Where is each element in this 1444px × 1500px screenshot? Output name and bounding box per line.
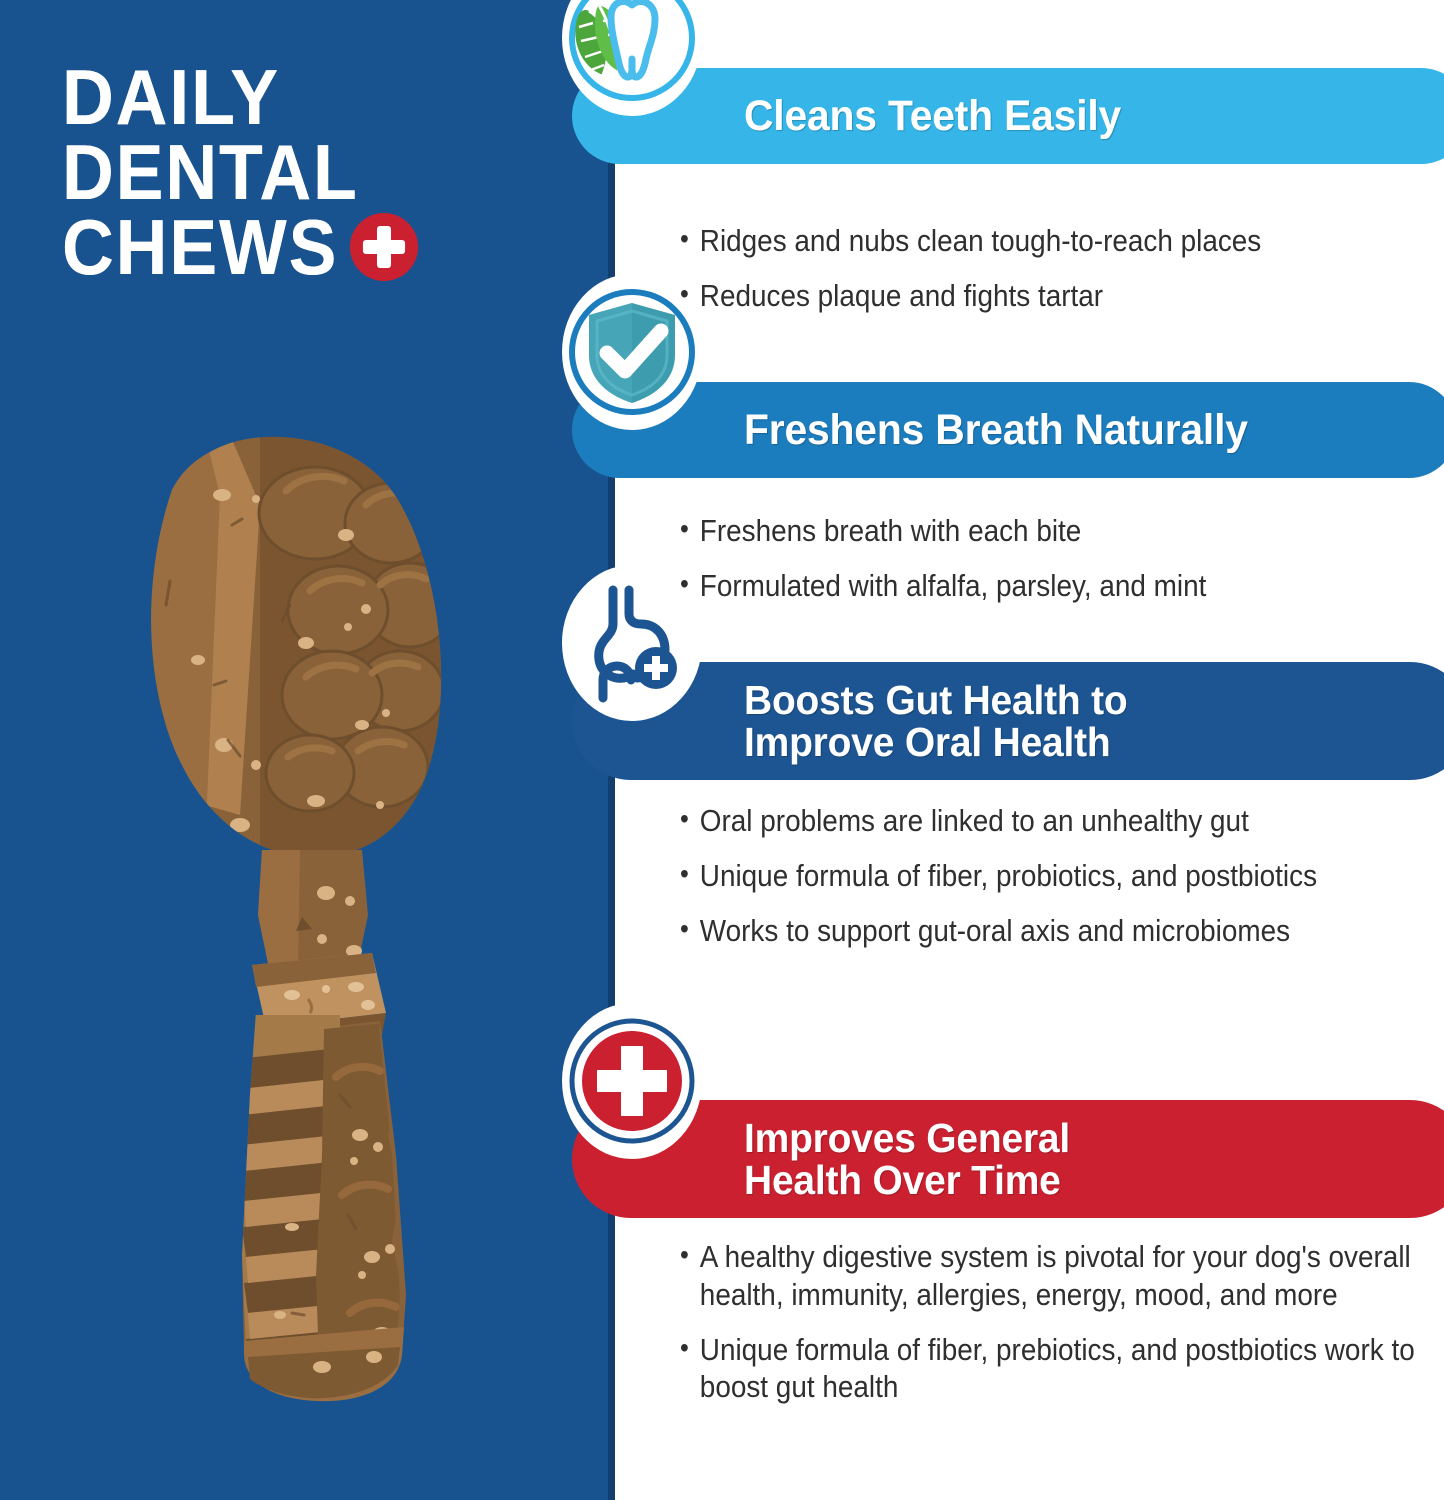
section-title-cleans-teeth: Cleans Teeth Easily	[744, 94, 1121, 138]
title-line-2: DENTAL	[62, 135, 494, 210]
section-title-boosts-gut-health: Boosts Gut Health to Improve Oral Health	[744, 679, 1128, 763]
section-title-freshens-breath: Freshens Breath Naturally	[744, 408, 1248, 452]
list-item: • Freshens breath with each bite	[680, 512, 1444, 550]
section-header-bar-freshens-breath: Freshens Breath Naturally	[572, 382, 1444, 478]
list-item: • Ridges and nubs clean tough-to-reach p…	[680, 222, 1444, 260]
bullet-dot-icon: •	[680, 857, 700, 891]
bullet-dot-icon: •	[680, 802, 700, 836]
tooth-mint-leaf-icon	[569, 0, 695, 101]
section-header-bar-boosts-gut-health: Boosts Gut Health to Improve Oral Health	[572, 662, 1444, 780]
shield-check-icon-badge	[562, 274, 702, 430]
infographic-page: DAILY DENTAL CHEWS	[0, 0, 1444, 1500]
list-item: • Unique formula of fiber, probiotics, a…	[680, 857, 1444, 895]
bullet-text: Ridges and nubs clean tough-to-reach pla…	[700, 222, 1444, 260]
bullet-dot-icon: •	[680, 912, 700, 946]
title-line-1: DAILY	[62, 60, 494, 135]
bullet-dot-icon: •	[680, 1238, 700, 1272]
title-line-3: CHEWS	[62, 210, 338, 285]
page-title: DAILY DENTAL CHEWS	[62, 60, 532, 285]
bullet-text: Reduces plaque and fights tartar	[700, 277, 1444, 315]
bullet-text: Unique formula of fiber, probiotics, and…	[700, 857, 1444, 895]
bullet-text: Formulated with alfalfa, parsley, and mi…	[700, 567, 1444, 605]
bullet-dot-icon: •	[680, 1331, 700, 1365]
list-item: • A healthy digestive system is pivotal …	[680, 1238, 1444, 1314]
section-title-improves-general-health: Improves General Health Over Time	[744, 1117, 1070, 1201]
shield-check-icon	[569, 289, 695, 415]
medical-cross-circle-icon-badge	[562, 1003, 702, 1159]
bullet-list-boosts-gut-health: • Oral problems are linked to an unhealt…	[680, 802, 1444, 966]
bullet-text: A healthy digestive system is pivotal fo…	[700, 1238, 1444, 1314]
list-item: • Works to support gut-oral axis and mic…	[680, 912, 1444, 950]
bullet-text: Oral problems are linked to an unhealthy…	[700, 802, 1444, 840]
stomach-plus-icon	[569, 580, 695, 706]
list-item: • Reduces plaque and fights tartar	[680, 277, 1444, 315]
bullet-text: Freshens breath with each bite	[700, 512, 1444, 550]
section-header-bar-improves-general-health: Improves General Health Over Time	[572, 1100, 1444, 1218]
list-item: • Oral problems are linked to an unhealt…	[680, 802, 1444, 840]
bullet-list-cleans-teeth: • Ridges and nubs clean tough-to-reach p…	[680, 222, 1444, 332]
bullet-text: Works to support gut-oral axis and micro…	[700, 912, 1444, 950]
bullet-list-improves-general-health: • A healthy digestive system is pivotal …	[680, 1238, 1444, 1423]
list-item: • Formulated with alfalfa, parsley, and …	[680, 567, 1444, 605]
tooth-mint-leaf-icon-badge	[562, 0, 702, 116]
section-header-bar-cleans-teeth: Cleans Teeth Easily	[572, 68, 1444, 164]
dog-dental-chew-illustration	[110, 395, 510, 1415]
stomach-plus-icon-badge	[562, 565, 702, 721]
list-item: • Unique formula of fiber, prebiotics, a…	[680, 1331, 1444, 1407]
bullet-list-freshens-breath: • Freshens breath with each bite • Formu…	[680, 512, 1444, 622]
bullet-dot-icon: •	[680, 222, 700, 256]
title-line-3-row: CHEWS	[62, 210, 494, 285]
medical-cross-circle-icon	[569, 1018, 695, 1144]
medical-cross-icon	[350, 213, 418, 281]
bullet-text: Unique formula of fiber, prebiotics, and…	[700, 1331, 1444, 1407]
bullet-dot-icon: •	[680, 512, 700, 546]
